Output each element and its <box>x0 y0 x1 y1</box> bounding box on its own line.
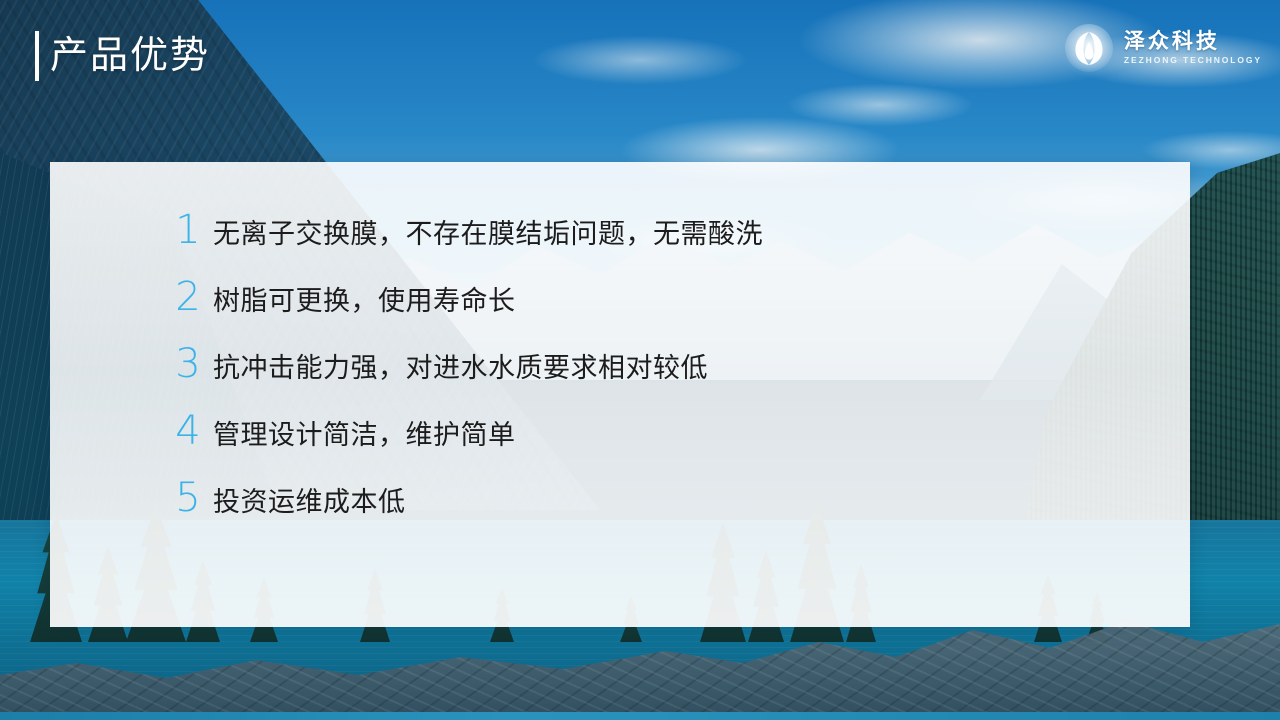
company-logo: 泽众科技 ZEZHONG TECHNOLOGY <box>1064 20 1262 76</box>
list-item-number: 3 <box>175 344 201 384</box>
list-item: 1 无离子交换膜，不存在膜结垢问题，无需酸洗 <box>175 210 1150 253</box>
logo-company-cn: 泽众科技 <box>1124 30 1262 54</box>
logo-wordmark: 泽众科技 ZEZHONG TECHNOLOGY <box>1124 30 1262 66</box>
list-item-number: 2 <box>175 277 201 317</box>
water-drop-leaf-logo-icon <box>1064 23 1114 73</box>
logo-company-en: ZEZHONG TECHNOLOGY <box>1124 54 1262 66</box>
list-item: 3 抗冲击能力强，对进水水质要求相对较低 <box>175 344 1150 387</box>
advantages-list: 1 无离子交换膜，不存在膜结垢问题，无需酸洗 2 树脂可更换，使用寿命长 3 抗… <box>175 210 1150 521</box>
list-item-text: 无离子交换膜，不存在膜结垢问题，无需酸洗 <box>213 215 763 253</box>
list-item-text: 树脂可更换，使用寿命长 <box>213 282 516 320</box>
slide-root: 产品优势 泽众科技 <box>0 0 1280 720</box>
list-item-text: 管理设计简洁，维护简单 <box>213 416 516 454</box>
page-title: 产品优势 <box>50 31 210 81</box>
list-item-number: 1 <box>175 210 201 250</box>
title-accent-bar <box>35 31 39 81</box>
list-item-text: 抗冲击能力强，对进水水质要求相对较低 <box>213 349 708 387</box>
slide-header: 产品优势 泽众科技 <box>0 0 1280 110</box>
bottom-accent-strip <box>0 712 1280 720</box>
advantages-card: 1 无离子交换膜，不存在膜结垢问题，无需酸洗 2 树脂可更换，使用寿命长 3 抗… <box>50 162 1190 627</box>
list-item: 2 树脂可更换，使用寿命长 <box>175 277 1150 320</box>
list-item-number: 4 <box>175 411 201 451</box>
list-item-number: 5 <box>175 478 201 518</box>
list-item-text: 投资运维成本低 <box>213 483 406 521</box>
list-item: 5 投资运维成本低 <box>175 478 1150 521</box>
list-item: 4 管理设计简洁，维护简单 <box>175 411 1150 454</box>
